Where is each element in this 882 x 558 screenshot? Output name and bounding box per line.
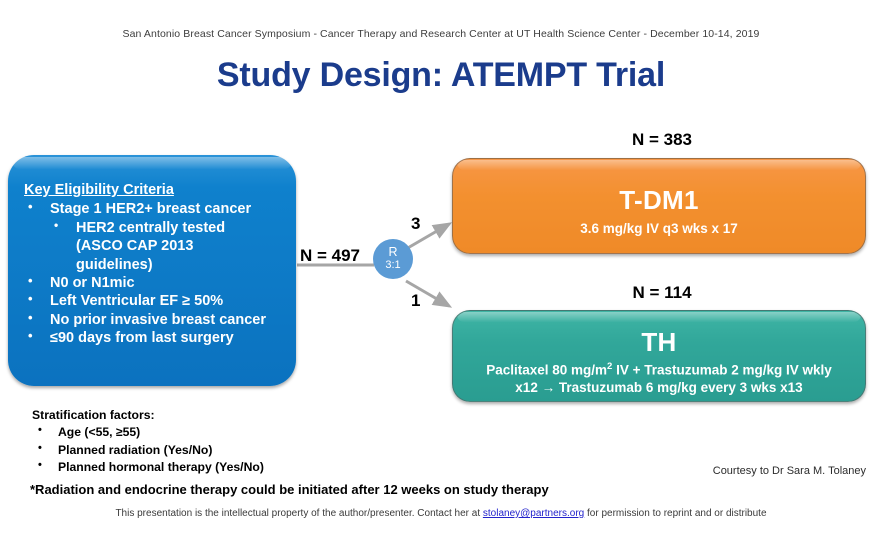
copyright-notice: This presentation is the intellectual pr… — [0, 508, 882, 519]
list-item: ≤90 days from last surgery — [24, 329, 286, 347]
arm-th-dose-line1-b: IV + Trastuzumab 2 mg/kg IV wkly — [612, 363, 831, 378]
arm-th-name: TH — [453, 327, 865, 358]
list-item: No prior invasive breast cancer — [24, 311, 286, 329]
arm-tdm1-n-label: N = 383 — [452, 130, 872, 150]
total-enrollment-label: N = 497 — [300, 246, 360, 266]
randomization-letter: R — [373, 246, 413, 260]
list-item: Planned hormonal therapy (Yes/No) — [32, 459, 264, 476]
list-item: Planned radiation (Yes/No) — [32, 442, 264, 459]
eligibility-sublist: HER2 centrally tested — [50, 219, 286, 237]
arrow-label-lower: 1 — [411, 291, 420, 311]
eligibility-list: Stage 1 HER2+ breast cancer HER2 central… — [24, 200, 286, 347]
eligibility-criteria-box: Key Eligibility Criteria Stage 1 HER2+ b… — [8, 155, 296, 386]
arm-th-box: TH Paclitaxel 80 mg/m2 IV + Trastuzumab … — [452, 310, 866, 402]
list-item: Left Ventricular EF ≥ 50% — [24, 292, 286, 310]
eligibility-sub-continuation-1: (ASCO CAP 2013 — [50, 237, 286, 255]
arm-th-dose: Paclitaxel 80 mg/m2 IV + Trastuzumab 2 m… — [453, 361, 865, 397]
randomization-node: R 3:1 — [373, 239, 413, 279]
page-title: Study Design: ATEMPT Trial — [0, 56, 882, 95]
eligibility-sub-continuation-2: guidelines) — [50, 256, 286, 274]
eligibility-heading: Key Eligibility Criteria — [24, 181, 286, 199]
stratification-list: Age (<55, ≥55) Planned radiation (Yes/No… — [32, 424, 264, 476]
arm-tdm1-name: T-DM1 — [453, 185, 865, 216]
stratification-block: Stratification factors: Age (<55, ≥55) P… — [32, 407, 264, 476]
contact-email-link[interactable]: stolaney@partners.org — [483, 508, 584, 519]
copyright-prefix: This presentation is the intellectual pr… — [115, 508, 482, 519]
arm-tdm1-dose: 3.6 mg/kg IV q3 wks x 17 — [453, 220, 865, 238]
copyright-suffix: for permission to reprint and or distrib… — [584, 508, 766, 519]
arm-th-dose-line1-a: Paclitaxel 80 mg/m — [486, 363, 607, 378]
randomization-ratio: 3:1 — [373, 260, 413, 272]
arrow-label-upper: 3 — [411, 214, 420, 234]
arm-th-dose-line2: x12 → Trastuzumab 6 mg/kg every 3 wks x1… — [453, 379, 865, 397]
arm-tdm1-box: T-DM1 3.6 mg/kg IV q3 wks x 17 — [452, 158, 866, 254]
footnote: *Radiation and endocrine therapy could b… — [30, 482, 549, 497]
list-item: Age (<55, ≥55) — [32, 424, 264, 441]
conference-header: San Antonio Breast Cancer Symposium - Ca… — [0, 28, 882, 40]
courtesy-note: Courtesy to Dr Sara M. Tolaney — [713, 465, 866, 477]
arm-th-n-label: N = 114 — [452, 283, 872, 303]
list-item: Stage 1 HER2+ breast cancer HER2 central… — [24, 200, 286, 274]
eligibility-item-0: Stage 1 HER2+ breast cancer — [50, 201, 251, 217]
stratification-heading: Stratification factors: — [32, 407, 264, 424]
arm-th-dose-line1: Paclitaxel 80 mg/m2 IV + Trastuzumab 2 m… — [453, 361, 865, 379]
list-item: N0 or N1mic — [24, 274, 286, 292]
list-item: HER2 centrally tested — [50, 219, 286, 237]
